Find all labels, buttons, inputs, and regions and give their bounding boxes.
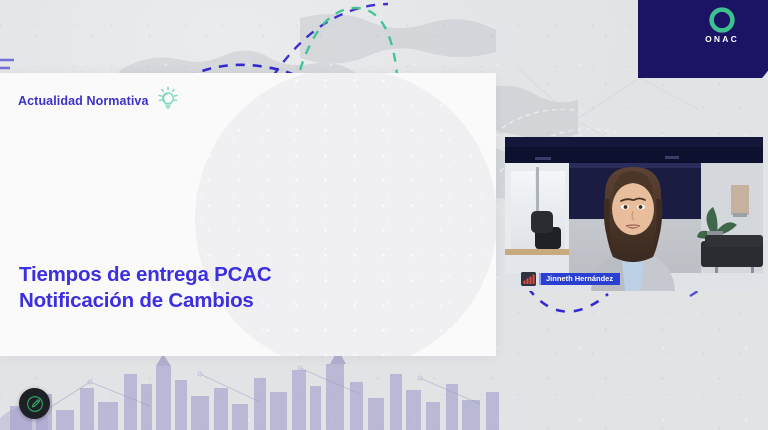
pen-edit-icon [27,396,43,412]
edit-annotate-button[interactable] [19,388,50,419]
onac-circle-logo-icon [709,7,735,33]
video-tile[interactable] [505,137,763,291]
slide-title: Tiempos de entrega PCAC Notificación de … [19,262,271,314]
video-feed [505,137,763,291]
participant-name-tag: Jinneth Hernández [521,272,620,286]
onac-logo-text: ONAC [696,35,748,44]
slide-eyebrow-row: Actualidad Normativa [18,88,181,113]
participant-name-label: Jinneth Hernández [539,273,620,286]
slide-title-line-1: Tiempos de entrega PCAC [19,262,271,288]
presentation-stage: ONAC Actualidad Normativa Tiempos de ent… [0,0,768,430]
onac-logo: ONAC [696,7,748,44]
slide-eyebrow-label: Actualidad Normativa [18,94,149,108]
lightbulb-icon [155,85,181,113]
slide-title-line-2: Notificación de Cambios [19,288,271,314]
signal-bars-icon [521,272,536,286]
city-skyline-icon [0,344,560,430]
